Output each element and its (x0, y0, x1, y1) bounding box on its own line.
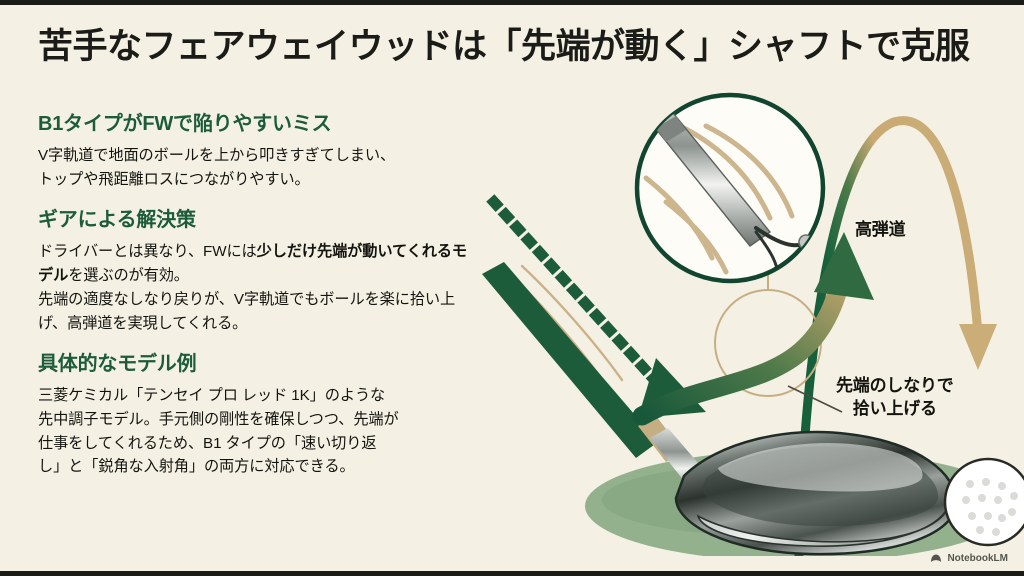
body-line: トップや飛距離ロスにつながりやすい。 (38, 171, 310, 188)
section-heading: ギアによる解決策 (38, 208, 468, 233)
label-high-trajectory: 高弾道 (855, 219, 905, 242)
body-text: 先端の適度なしなり戻りが、V字軌道でもボールを楽に拾い上げ、高弾道を実現してくれ… (38, 291, 455, 332)
label-line: 先端のしなりで (836, 376, 954, 395)
label-line: 拾い上げる (853, 399, 937, 418)
body-line: 三菱ケミカル「テンセイ プロ レッド 1K」のような (38, 387, 385, 404)
section-body: V字軌道で地面のボールを上から叩きすぎてしまい、 トップや飛距離ロスにつながりや… (38, 144, 468, 191)
section-heading: 具体的なモデル例 (38, 352, 468, 377)
golf-ball (945, 459, 1024, 545)
body-line: V字軌道で地面のボールを上から叩きすぎてしまい、 (38, 147, 395, 164)
illustration (470, 86, 1024, 556)
magnifier-lens (636, 92, 826, 304)
section-miss: B1タイプがFWで陥りやすいミス V字軌道で地面のボールを上から叩きすぎてしまい… (38, 112, 468, 191)
content-column: B1タイプがFWで陥りやすいミス V字軌道で地面のボールを上から叩きすぎてしまい… (38, 112, 468, 496)
slide-root: 苦手なフェアウェイウッドは「先端が動く」シャフトで克服 B1タイプがFWで陥りや… (0, 0, 1024, 576)
top-edge-bar (0, 0, 1024, 5)
watermark-label: NotebookLM (947, 553, 1008, 564)
bottom-edge-bar (0, 571, 1024, 576)
label-tip-flex: 先端のしなりで 拾い上げる (836, 375, 954, 421)
body-text: ドライバーとは異なり、FWには (38, 243, 257, 260)
section-model-example: 具体的なモデル例 三菱ケミカル「テンセイ プロ レッド 1K」のような 先中調子… (38, 352, 468, 479)
section-body: ドライバーとは異なり、FWには少しだけ先端が動いてくれるモデルを選ぶのが有効。 … (38, 240, 468, 335)
section-solution: ギアによる解決策 ドライバーとは異なり、FWには少しだけ先端が動いてくれるモデル… (38, 208, 468, 335)
section-body: 三菱ケミカル「テンセイ プロ レッド 1K」のような 先中調子モデル。手元側の剛… (38, 384, 468, 479)
notebooklm-watermark: NotebookLM (930, 553, 1008, 564)
body-line: 仕事をしてくれるため、B1 タイプの「速い切り返 (38, 435, 376, 452)
page-title: 苦手なフェアウェイウッドは「先端が動く」シャフトで克服 (38, 26, 998, 68)
section-heading: B1タイプがFWで陥りやすいミス (38, 112, 468, 137)
body-line: 先中調子モデル。手元側の剛性を確保しつつ、先端が (38, 411, 399, 428)
body-text: を選ぶのが有効。 (68, 267, 189, 284)
body-line: し」と「鋭角な入射角」の両方に対応できる。 (38, 458, 355, 475)
notebooklm-icon (930, 553, 942, 564)
